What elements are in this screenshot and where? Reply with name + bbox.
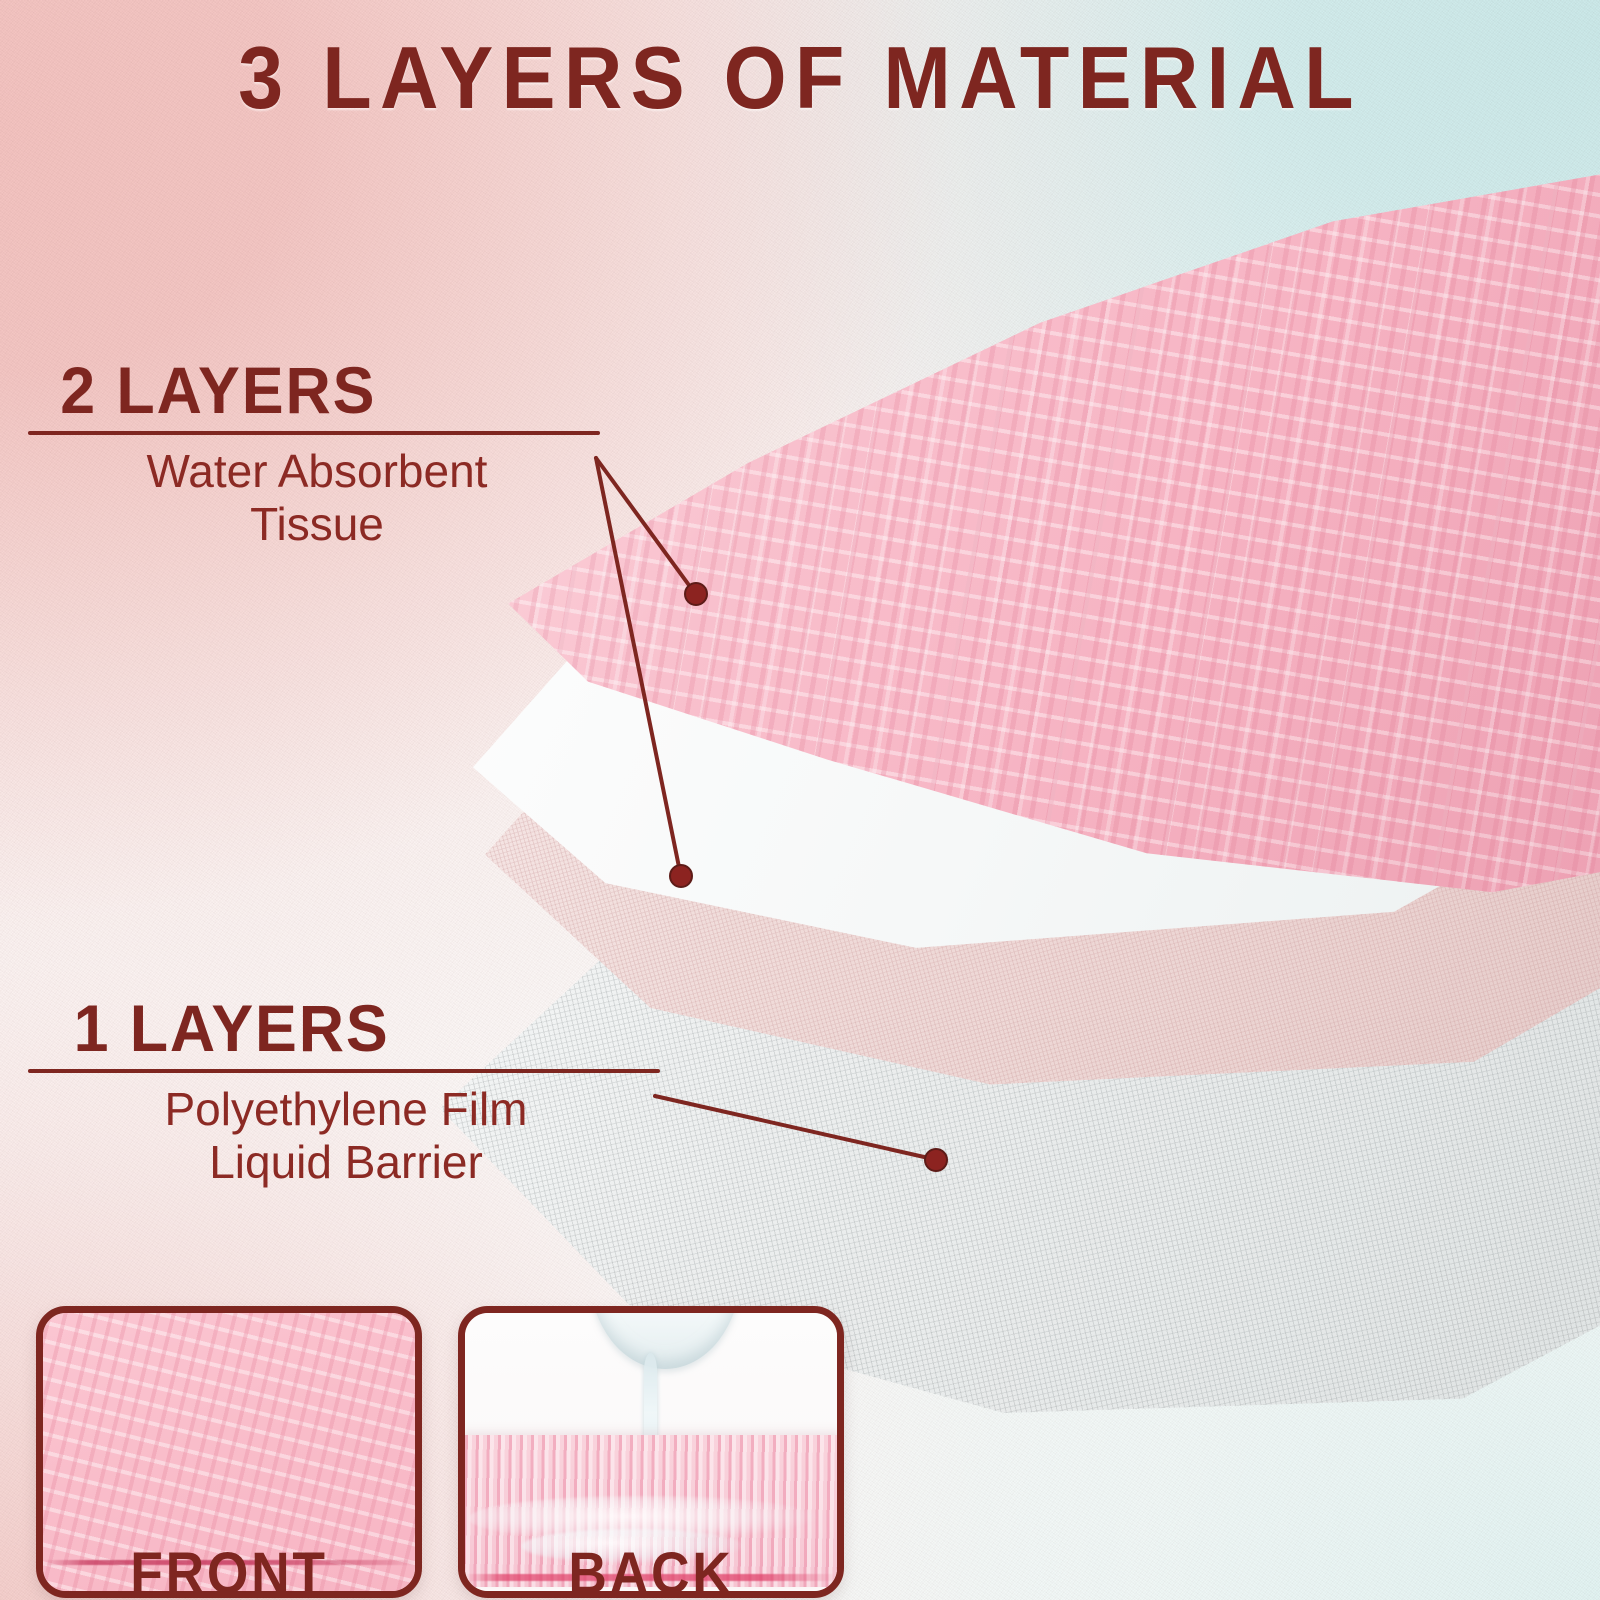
callout-heading-1-layers: 1 LAYERS <box>28 996 628 1061</box>
page-title: 3 LAYERS OF MATERIAL <box>64 34 1536 122</box>
water-glass <box>589 1306 741 1369</box>
callout-heading-2-layers: 2 LAYERS <box>28 358 571 423</box>
panel-caption-front: FRONT <box>58 1545 400 1598</box>
callout-block-1-layers: 1 LAYERS Polyethylene Film Liquid Barrie… <box>28 996 660 1189</box>
callout-divider-1-layers <box>28 1069 660 1073</box>
panel-front: FRONT <box>36 1306 422 1598</box>
panel-caption-back: BACK <box>480 1545 822 1598</box>
callout-divider-2-layers <box>28 431 600 435</box>
callout-subtitle-1-layers: Polyethylene Film Liquid Barrier <box>28 1083 660 1190</box>
panel-back: BACK <box>458 1306 844 1598</box>
callout-block-2-layers: 2 LAYERS Water Absorbent Tissue <box>28 358 600 551</box>
comparison-panel-group: FRONT BACK <box>36 1306 844 1598</box>
infographic-canvas: 3 LAYERS OF MATERIAL 2 LAYERS Water Abso… <box>0 0 1600 1600</box>
callout-subtitle-2-layers: Water Absorbent Tissue <box>28 445 600 552</box>
